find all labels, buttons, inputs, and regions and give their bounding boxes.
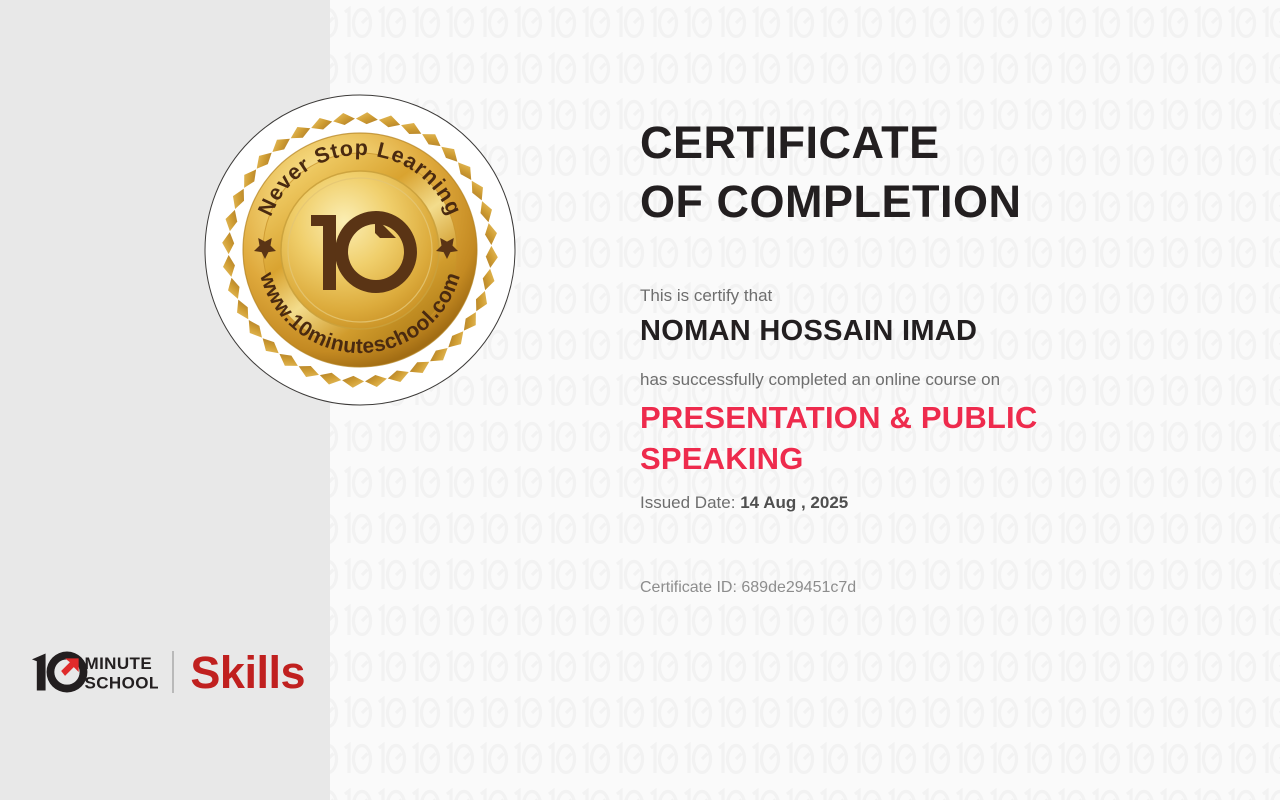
logo-divider <box>172 651 174 693</box>
intro-text: This is certify that <box>640 286 772 306</box>
certificate-title-line1: CERTIFICATE <box>640 117 940 168</box>
brand-logo: MINUTE SCHOOL Skills <box>30 643 305 701</box>
certificate-title: CERTIFICATE OF COMPLETION <box>640 114 1240 231</box>
logo-product-label: Skills <box>190 650 305 695</box>
issued-date-value: 14 Aug , 2025 <box>740 493 848 512</box>
course-title: PRESENTATION & PUBLIC SPEAKING <box>640 398 1110 480</box>
certificate-content: CERTIFICATE OF COMPLETION This is certif… <box>640 0 1240 800</box>
recipient-name: NOMAN HOSSAIN IMAD <box>640 315 977 348</box>
issued-date: Issued Date: 14 Aug , 2025 <box>640 493 848 513</box>
issued-date-label: Issued Date: <box>640 493 735 512</box>
completion-seal: Never Stop Learning www.10minuteschool.c… <box>203 93 517 407</box>
certificate-id-label: Certificate ID: <box>640 579 737 596</box>
certificate-id-value: 689de29451c7d <box>741 579 856 596</box>
certificate-page: Never Stop Learning www.10minuteschool.c… <box>0 0 1280 800</box>
certificate-id: Certificate ID: 689de29451c7d <box>640 579 856 597</box>
logo-word-minute: MINUTE <box>85 654 153 673</box>
course-prefix-text: has successfully completed an online cou… <box>640 370 1000 390</box>
certificate-title-line2: OF COMPLETION <box>640 173 1240 232</box>
ten-minute-school-logo-icon: MINUTE SCHOOL <box>30 648 158 696</box>
logo-word-school: SCHOOL <box>85 674 159 693</box>
